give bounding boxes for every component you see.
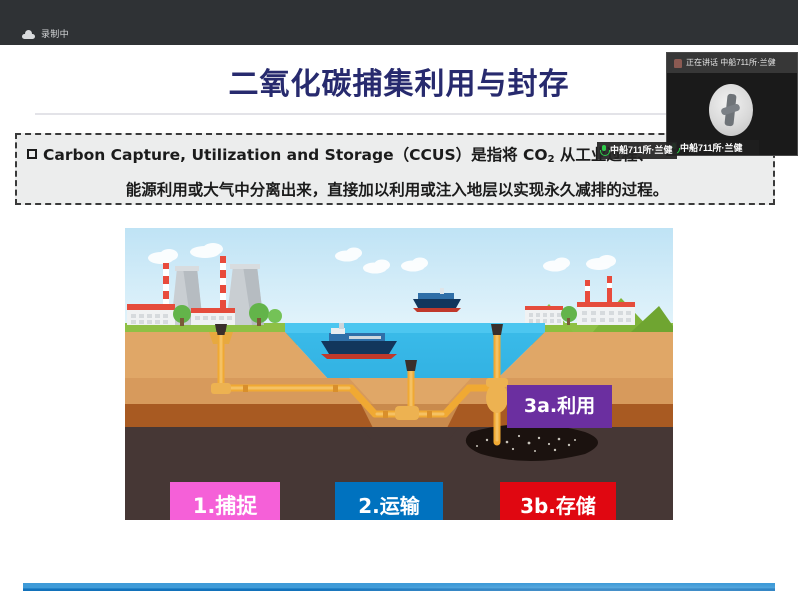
diagram-chip-utilization: 3a.利用 bbox=[507, 385, 612, 428]
ccus-diagram: 1.捕捉 2.运输 3b.存储 3a.利用 bbox=[125, 228, 673, 520]
video-stage[interactable]: 中船711所·兰健 bbox=[667, 73, 798, 156]
slide-footer-bar: 4 bbox=[23, 583, 775, 591]
bullet-square-icon bbox=[27, 149, 37, 159]
definition-line2: 能源利用或大气中分离出来，直接加以利用或注入地层以实现永久减排的过程。 bbox=[27, 175, 767, 206]
video-thumbnail-panel[interactable]: 正在讲话 中船711所·兰健 中船711所·兰健 bbox=[666, 52, 798, 156]
participant-name-tag: 中船711所·兰健 bbox=[667, 140, 759, 156]
recording-bar: 录制中 bbox=[0, 0, 798, 45]
recording-status: 录制中 bbox=[22, 30, 69, 39]
video-panel-header-label: 正在讲话 中船711所·兰健 bbox=[686, 59, 776, 67]
definition-subscript: 2 bbox=[548, 154, 555, 165]
cloud-icon bbox=[22, 30, 35, 39]
video-panel-header: 正在讲话 中船711所·兰健 bbox=[667, 53, 798, 73]
microphone-icon-floating bbox=[600, 145, 608, 156]
floating-participant-label: 中船711所·兰健 bbox=[610, 146, 673, 155]
title-divider bbox=[35, 113, 763, 115]
screen-root: 录制中 二氧化碳捕集利用与封存 Carbon Capture, Utilizat… bbox=[0, 0, 798, 591]
participant-name-label: 中船711所·兰健 bbox=[680, 144, 743, 153]
footer-sheen bbox=[23, 583, 775, 591]
diagram-chip-transport: 2.运输 bbox=[335, 482, 443, 520]
recording-status-label: 录制中 bbox=[41, 30, 69, 39]
ccus-diagram-art bbox=[125, 228, 673, 520]
speaker-icon bbox=[674, 59, 682, 68]
floating-participant-tag: 中船711所·兰健 bbox=[597, 142, 677, 159]
avatar bbox=[709, 84, 753, 136]
diagram-chip-storage: 3b.存储 bbox=[500, 482, 616, 520]
definition-line1-part1: Carbon Capture, Utilization and Storage（… bbox=[43, 146, 548, 164]
diagram-chip-capture: 1.捕捉 bbox=[170, 482, 280, 520]
